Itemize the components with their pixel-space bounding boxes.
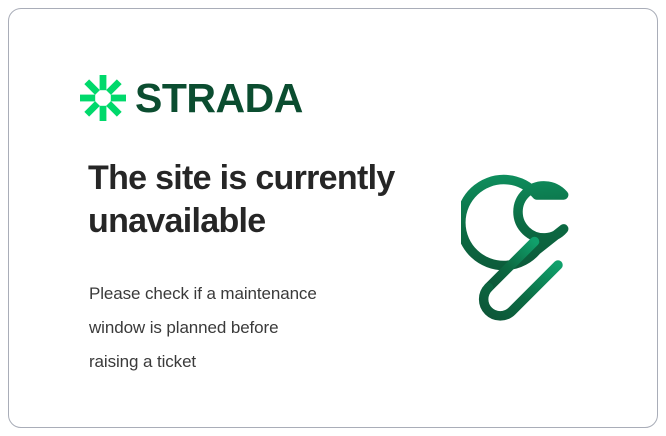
strada-asterisk-icon — [80, 75, 126, 121]
brand-wordmark: STRADA — [135, 78, 303, 119]
page-title: The site is currently unavailable — [88, 157, 448, 243]
brand-logo: STRADA — [80, 75, 303, 121]
page-description: Please check if a maintenance window is … — [89, 277, 409, 379]
wrench-icon — [461, 162, 625, 326]
description-line: Please check if a maintenance — [89, 277, 409, 311]
description-line: window is planned before — [89, 311, 409, 345]
description-line: raising a ticket — [89, 345, 409, 379]
status-card: STRADA The site is currently unavailable… — [8, 8, 658, 428]
maintenance-page: STRADA The site is currently unavailable… — [0, 0, 666, 436]
